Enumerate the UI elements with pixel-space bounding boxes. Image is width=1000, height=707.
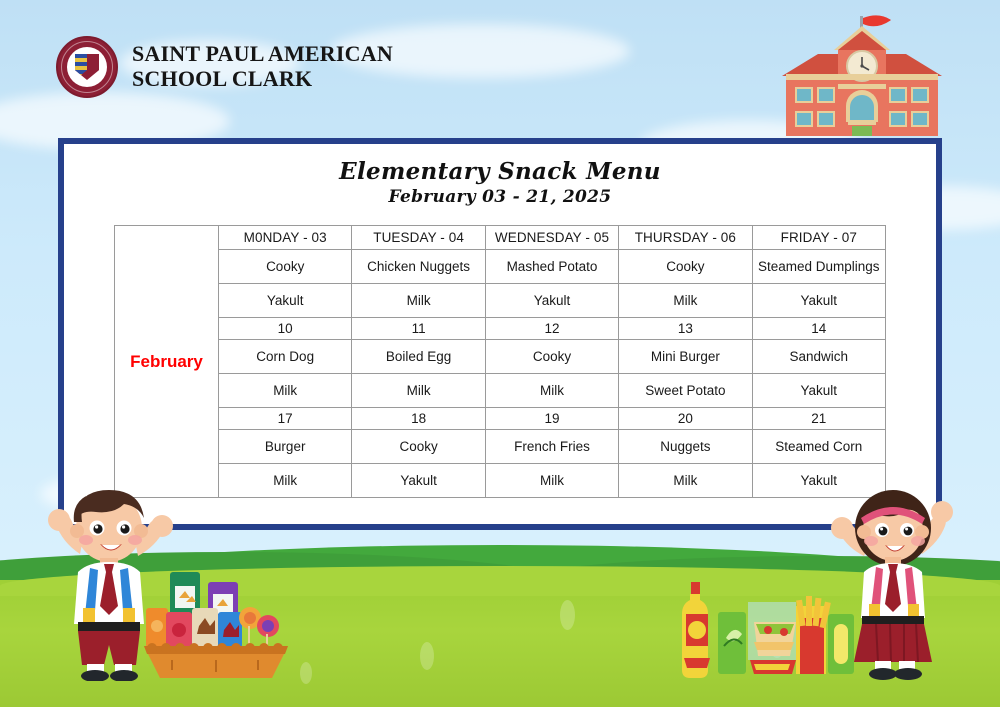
food-row: BurgerCookyFrench FriesNuggetsSteamed Co… (115, 430, 886, 464)
date-cell-1-2: 12 (485, 318, 618, 340)
drink-cell-0-4: Yakult (752, 284, 885, 318)
drink-cell-1-3: Sweet Potato (619, 374, 752, 408)
drink-cell-2-2: Milk (485, 464, 618, 498)
month-label: February (115, 352, 218, 372)
school-seal-icon (56, 36, 118, 98)
menu-date-range: February 03 - 21, 2025 (74, 187, 926, 207)
school-building-illustration (772, 14, 952, 142)
day-header-0: M0NDAY - 03 (219, 226, 352, 250)
drink-cell-0-2: Yakult (485, 284, 618, 318)
food-cell-2-2: French Fries (485, 430, 618, 464)
food-cell-1-0: Corn Dog (219, 340, 352, 374)
drink-cell-1-0: Milk (219, 374, 352, 408)
drink-cell-0-0: Yakult (219, 284, 352, 318)
drink-cell-2-0: Milk (219, 464, 352, 498)
food-cell-2-4: Steamed Corn (752, 430, 885, 464)
drink-cell-1-2: Milk (485, 374, 618, 408)
date-cell-1-3: 13 (619, 318, 752, 340)
snack-basket-illustration (142, 568, 290, 680)
food-cell-2-0: Burger (219, 430, 352, 464)
day-header-2: WEDNESDAY - 05 (485, 226, 618, 250)
drink-row: YakultMilkYakultMilkYakult (115, 284, 886, 318)
snack-menu-table: FebruaryM0NDAY - 03TUESDAY - 04WEDNESDAY… (114, 225, 886, 498)
school-name: SAINT PAUL AMERICAN SCHOOL CLARK (132, 42, 393, 91)
food-row: CookyChicken NuggetsMashed PotatoCookySt… (115, 250, 886, 284)
food-cell-0-0: Cooky (219, 250, 352, 284)
snack-food-illustration (676, 576, 856, 680)
date-cell-2-0: 17 (219, 408, 352, 430)
drink-cell-2-1: Yakult (352, 464, 485, 498)
menu-title: Elementary Snack Menu (74, 158, 926, 185)
date-cell-2-1: 18 (352, 408, 485, 430)
brand-header: SAINT PAUL AMERICAN SCHOOL CLARK (56, 36, 393, 98)
food-cell-0-3: Cooky (619, 250, 752, 284)
food-cell-1-4: Sandwich (752, 340, 885, 374)
date-cell-1-0: 10 (219, 318, 352, 340)
food-cell-0-2: Mashed Potato (485, 250, 618, 284)
menu-panel: Elementary Snack Menu February 03 - 21, … (58, 138, 942, 530)
food-cell-1-3: Mini Burger (619, 340, 752, 374)
date-cell-2-4: 21 (752, 408, 885, 430)
date-row: 1718192021 (115, 408, 886, 430)
food-cell-0-4: Steamed Dumplings (752, 250, 885, 284)
drink-row: MilkYakultMilkMilkYakult (115, 464, 886, 498)
day-header-3: THURSDAY - 06 (619, 226, 752, 250)
food-row: Corn DogBoiled EggCookyMini BurgerSandwi… (115, 340, 886, 374)
table-header-row: FebruaryM0NDAY - 03TUESDAY - 04WEDNESDAY… (115, 226, 886, 250)
drink-row: MilkMilkMilkSweet PotatoYakult (115, 374, 886, 408)
date-cell-2-2: 19 (485, 408, 618, 430)
food-cell-2-1: Cooky (352, 430, 485, 464)
food-cell-1-2: Cooky (485, 340, 618, 374)
food-cell-1-1: Boiled Egg (352, 340, 485, 374)
drink-cell-0-3: Milk (619, 284, 752, 318)
date-row: 1011121314 (115, 318, 886, 340)
drink-cell-1-1: Milk (352, 374, 485, 408)
drink-cell-2-3: Milk (619, 464, 752, 498)
food-cell-0-1: Chicken Nuggets (352, 250, 485, 284)
date-cell-2-3: 20 (619, 408, 752, 430)
month-cell: February (115, 226, 219, 498)
food-cell-2-3: Nuggets (619, 430, 752, 464)
date-cell-1-4: 14 (752, 318, 885, 340)
day-header-1: TUESDAY - 04 (352, 226, 485, 250)
date-cell-1-1: 11 (352, 318, 485, 340)
drink-cell-0-1: Milk (352, 284, 485, 318)
drink-cell-1-4: Yakult (752, 374, 885, 408)
day-header-4: FRIDAY - 07 (752, 226, 885, 250)
